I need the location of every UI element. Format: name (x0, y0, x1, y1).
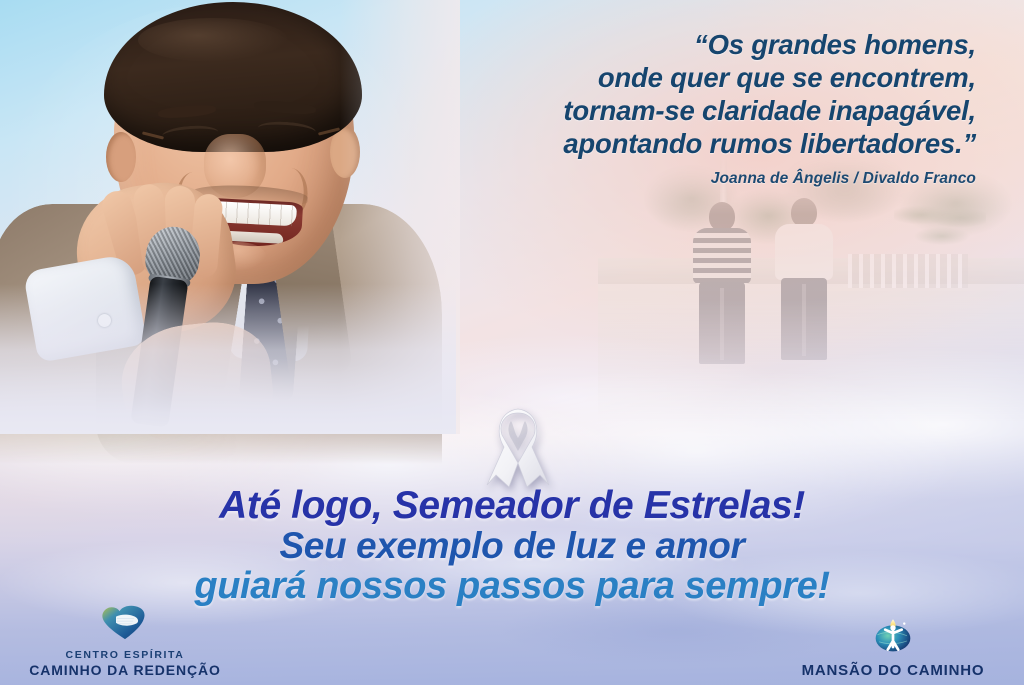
quote-line-3: tornam-se claridade inapagável, (416, 94, 976, 127)
headline-line-3: guiará nossos passos para sempre! (0, 566, 1024, 607)
scene-palm-tree (894, 194, 986, 264)
globe-figure-flame-icon (768, 614, 1018, 659)
ear-left (106, 132, 136, 182)
quote-attribution: Joanna de Ângelis / Divaldo Franco (416, 170, 976, 188)
logo-centro-espirita: CENTRO ESPÍRITA CAMINHO DA REDENÇÃO (14, 603, 236, 679)
quote-line-1: “Os grandes homens, (416, 28, 976, 61)
headline-line-1: Até logo, Semeador de Estrelas! (0, 485, 1024, 526)
logo-right-line-2: MANSÃO DO CAMINHO (768, 662, 1018, 679)
logo-mansao-do-caminho: MANSÃO DO CAMINHO (768, 614, 1018, 679)
logo-left-line-1: CENTRO ESPÍRITA (14, 649, 236, 662)
logo-left-line-2: CAMINHO DA REDENÇÃO (14, 662, 236, 679)
heart-hand-icon (14, 603, 236, 646)
portrait-photo (0, 0, 456, 434)
headline-line-2: Seu exemplo de luz e amor (0, 526, 1024, 566)
portrait-bottom-fade (0, 284, 456, 434)
headline-block: Até logo, Semeador de Estrelas! Seu exem… (0, 485, 1024, 607)
mourning-ribbon-icon (478, 405, 558, 490)
background-scene-photo (598, 150, 1024, 440)
quote-line-4: apontando rumos libertadores.” (416, 127, 976, 160)
quote-text: “Os grandes homens, onde quer que se enc… (416, 28, 976, 160)
quote-line-2: onde quer que se encontrem, (416, 61, 976, 94)
tribute-poster: “Os grandes homens, onde quer que se enc… (0, 0, 1024, 685)
